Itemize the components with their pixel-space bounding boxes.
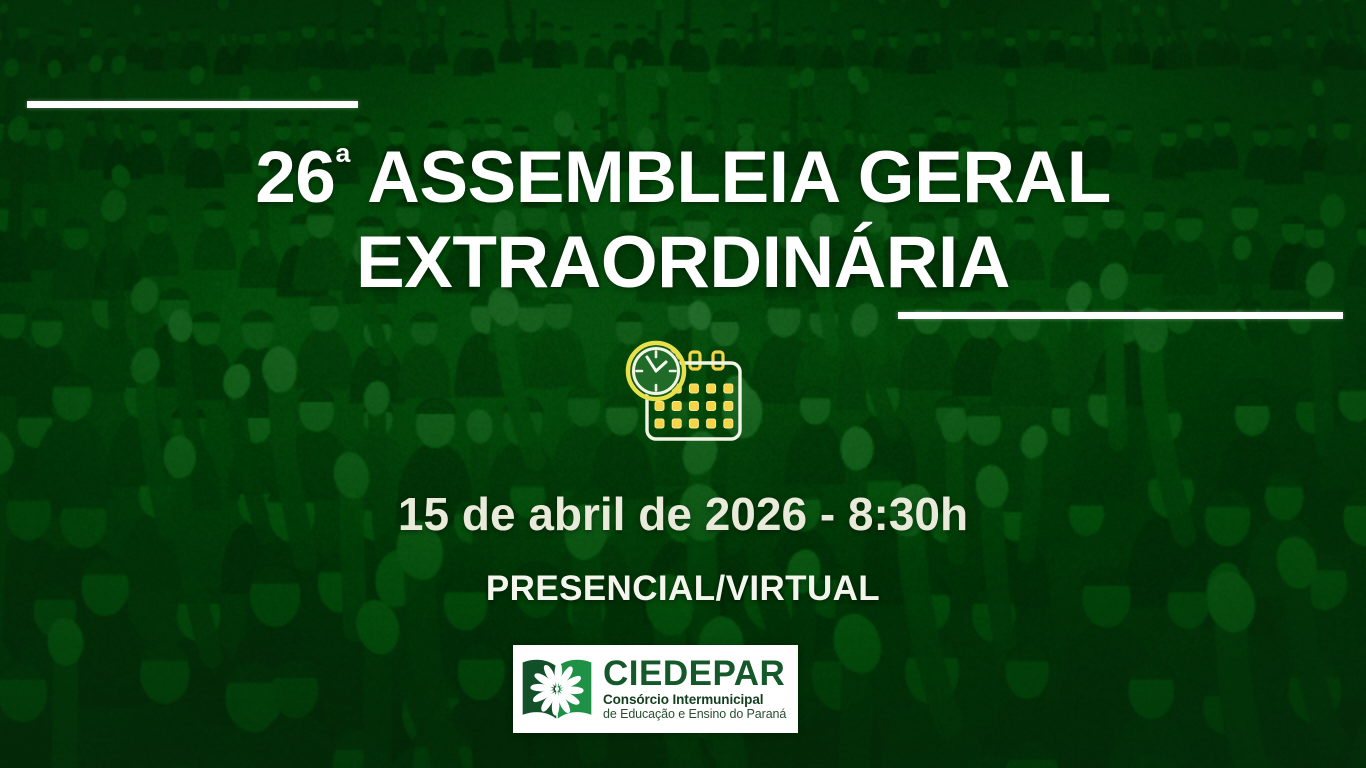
logo-subtitle-two: de Educação e Ensino do Paraná xyxy=(603,707,790,721)
calendar-clock-icon xyxy=(620,340,746,444)
title-line2: EXTRAORDINÁRIA xyxy=(356,222,1010,303)
title-line1-rest: ASSEMBLEIA GERAL xyxy=(350,137,1111,218)
decorative-rule-right xyxy=(898,312,1343,319)
logo-subtitle-one: Consórcio Intermunicipal xyxy=(603,692,790,707)
logo-brand-name: CIEDEPAR xyxy=(603,657,790,691)
event-poster: 26ª ASSEMBLEIA GERAL EXTRAORDINÁRIA xyxy=(0,0,1366,768)
page-title: 26ª ASSEMBLEIA GERAL EXTRAORDINÁRIA xyxy=(0,136,1366,305)
logo-text-block: CIEDEPAR Consórcio Intermunicipal de Edu… xyxy=(596,657,790,722)
event-modality: PRESENCIAL/VIRTUAL xyxy=(0,569,1366,609)
decorative-rule-left xyxy=(27,101,358,108)
title-ordinal-number: 26 xyxy=(255,137,335,218)
calendar-clock-icon-wrapper xyxy=(0,340,1366,444)
ciedepar-logo: CIEDEPAR Consórcio Intermunicipal de Edu… xyxy=(513,645,798,733)
title-ordinal-suffix: ª xyxy=(335,140,350,186)
ciedepar-book-logo-icon xyxy=(518,650,596,728)
event-date-time: 15 de abril de 2026 - 8:30h xyxy=(0,487,1366,541)
